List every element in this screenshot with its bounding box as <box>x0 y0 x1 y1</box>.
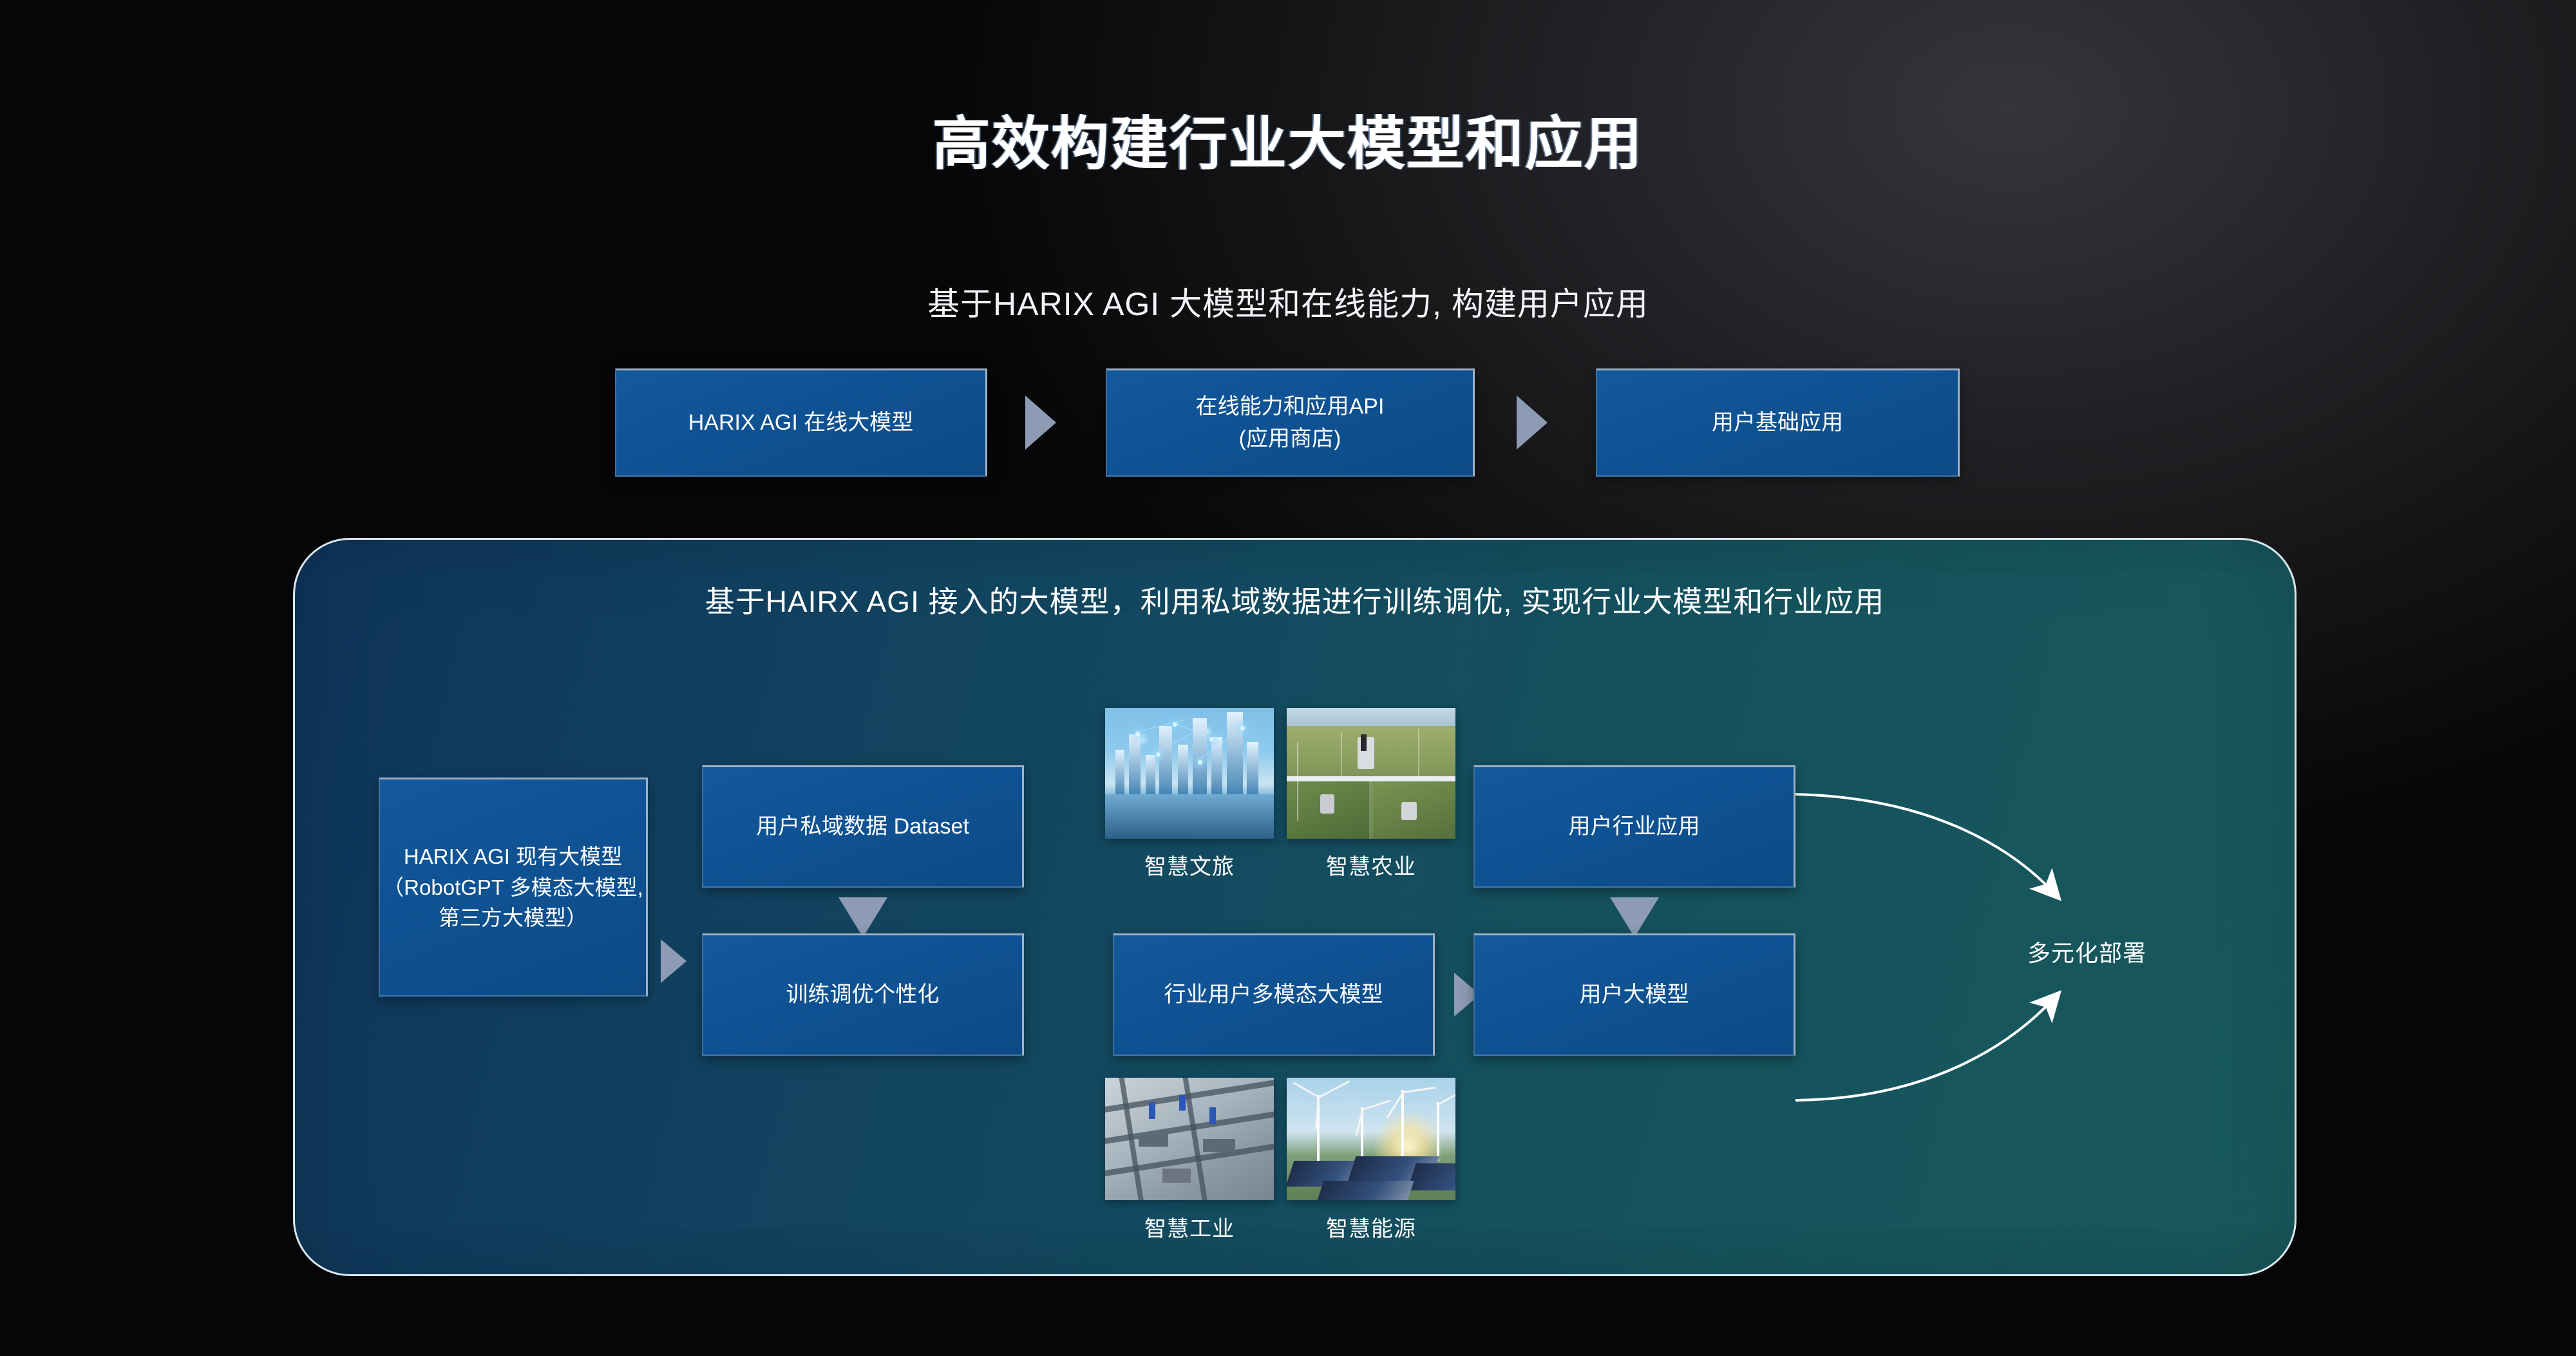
top-box-user-basic-app[interactable]: 用户基础应用 <box>1596 368 1960 477</box>
smart-energy-thumbnail-caption: 智慧能源 <box>1274 1211 1468 1243</box>
smart-energy-thumbnail <box>1287 1078 1455 1200</box>
top-box-online-capability-api[interactable]: 在线能力和应用API (应用商店) <box>1106 368 1475 477</box>
triangle-right-icon-3 <box>661 939 687 983</box>
panel-box-industry-multimodal-model-label: 行业用户多模态大模型 <box>1164 979 1383 1011</box>
smart-industry-thumbnail <box>1105 1078 1274 1200</box>
main-panel: 基于HAIRX AGI 接入的大模型，利用私域数据进行训练调优, 实现行业大模型… <box>293 538 2297 1276</box>
top-box-user-basic-app-label: 用户基础应用 <box>1712 407 1843 439</box>
top-box-online-capability-api-line1: 在线能力和应用API <box>1196 391 1385 423</box>
triangle-down-icon <box>838 897 887 937</box>
top-box-harix-online-model[interactable]: HARIX AGI 在线大模型 <box>615 368 987 477</box>
arrow-app-to-deploy <box>1795 794 2056 895</box>
panel-box-user-industry-app[interactable]: 用户行业应用 <box>1473 765 1795 888</box>
deployment-label: 多元化部署 <box>2027 935 2146 968</box>
smart-city-thumbnail <box>1105 708 1274 839</box>
smart-city-thumbnail-caption: 智慧文旅 <box>1092 849 1287 881</box>
panel-box-industry-multimodal-model[interactable]: 行业用户多模态大模型 <box>1113 933 1435 1056</box>
panel-box-user-model-label: 用户大模型 <box>1580 979 1689 1011</box>
panel-box-existing-model-line3: 第三方大模型） <box>439 902 587 933</box>
smart-agriculture-thumbnail <box>1287 708 1455 839</box>
panel-box-existing-model-line1: HARIX AGI 现有大模型 <box>404 841 622 872</box>
panel-box-training[interactable]: 训练调优个性化 <box>702 933 1024 1056</box>
panel-box-dataset[interactable]: 用户私域数据 Dataset <box>702 765 1024 888</box>
arrow-model-to-deploy <box>1795 996 2056 1100</box>
page-title: 高效构建行业大模型和应用 <box>0 97 2576 180</box>
panel-box-existing-model-line2: （RobotGPT 多模态大模型, <box>383 872 643 903</box>
top-box-harix-online-model-label: HARIX AGI 在线大模型 <box>688 407 914 439</box>
slide-root: 高效构建行业大模型和应用 基于HARIX AGI 大模型和在线能力, 构建用户应… <box>0 0 2576 1356</box>
triangle-down-icon-2 <box>1610 897 1659 937</box>
page-subtitle: 基于HARIX AGI 大模型和在线能力, 构建用户应用 <box>0 278 2576 325</box>
panel-box-dataset-label: 用户私域数据 Dataset <box>756 811 969 843</box>
smart-agriculture-thumbnail-caption: 智慧农业 <box>1274 849 1468 881</box>
panel-box-training-label: 训练调优个性化 <box>786 979 940 1011</box>
top-box-online-capability-api-line2: (应用商店) <box>1239 423 1341 455</box>
smart-industry-thumbnail-caption: 智慧工业 <box>1092 1211 1287 1243</box>
triangle-right-icon <box>1025 396 1056 450</box>
panel-box-user-industry-app-label: 用户行业应用 <box>1569 811 1700 843</box>
triangle-right-icon-2 <box>1517 396 1548 450</box>
panel-heading: 基于HAIRX AGI 接入的大模型，利用私域数据进行训练调优, 实现行业大模型… <box>295 578 2295 621</box>
panel-box-user-model[interactable]: 用户大模型 <box>1473 933 1795 1056</box>
panel-box-existing-model[interactable]: HARIX AGI 现有大模型 （RobotGPT 多模态大模型, 第三方大模型… <box>379 778 648 997</box>
